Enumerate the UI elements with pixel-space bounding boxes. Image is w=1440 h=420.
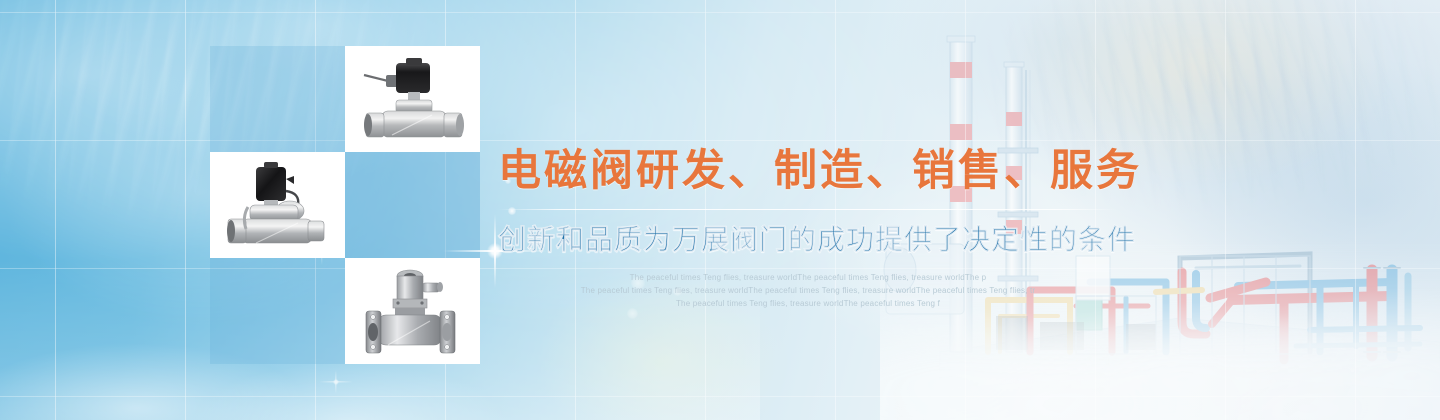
product-card-threaded-solenoid-valve-compact[interactable] <box>210 152 345 258</box>
banner-subheadline: 创新和品质为万展阀门的成功提供了决定性的条件 <box>498 218 1118 258</box>
hero-banner: 电磁阀研发、制造、销售、服务 创新和品质为万展阀门的成功提供了决定性的条件 Th… <box>0 0 1440 420</box>
blurb-line-3: The peaceful times Teng flies, treasure … <box>498 298 1118 311</box>
product-mosaic <box>0 0 480 420</box>
banner-blurb: The peaceful times Teng flies, treasure … <box>498 272 1118 311</box>
solenoid-valve-threaded-icon <box>358 55 468 143</box>
mosaic-tint-block-1 <box>345 152 480 258</box>
blurb-line-1: The peaceful times Teng flies, treasure … <box>498 272 1118 285</box>
solenoid-valve-flanged-icon <box>360 265 466 357</box>
banner-headline: 电磁阀研发、制造、销售、服务 <box>498 146 1118 197</box>
mosaic-tint-block-3 <box>210 258 345 364</box>
solenoid-valve-compact-icon <box>224 161 332 249</box>
banner-copy: 电磁阀研发、制造、销售、服务 创新和品质为万展阀门的成功提供了决定性的条件 Th… <box>498 146 1118 311</box>
product-card-threaded-solenoid-valve-horizontal[interactable] <box>345 46 480 152</box>
blurb-line-2: The peaceful times Teng flies, treasure … <box>498 285 1118 298</box>
headline-divider <box>498 209 1118 210</box>
product-card-flanged-solenoid-valve[interactable] <box>345 258 480 364</box>
mosaic-tint-block-2 <box>210 46 345 152</box>
